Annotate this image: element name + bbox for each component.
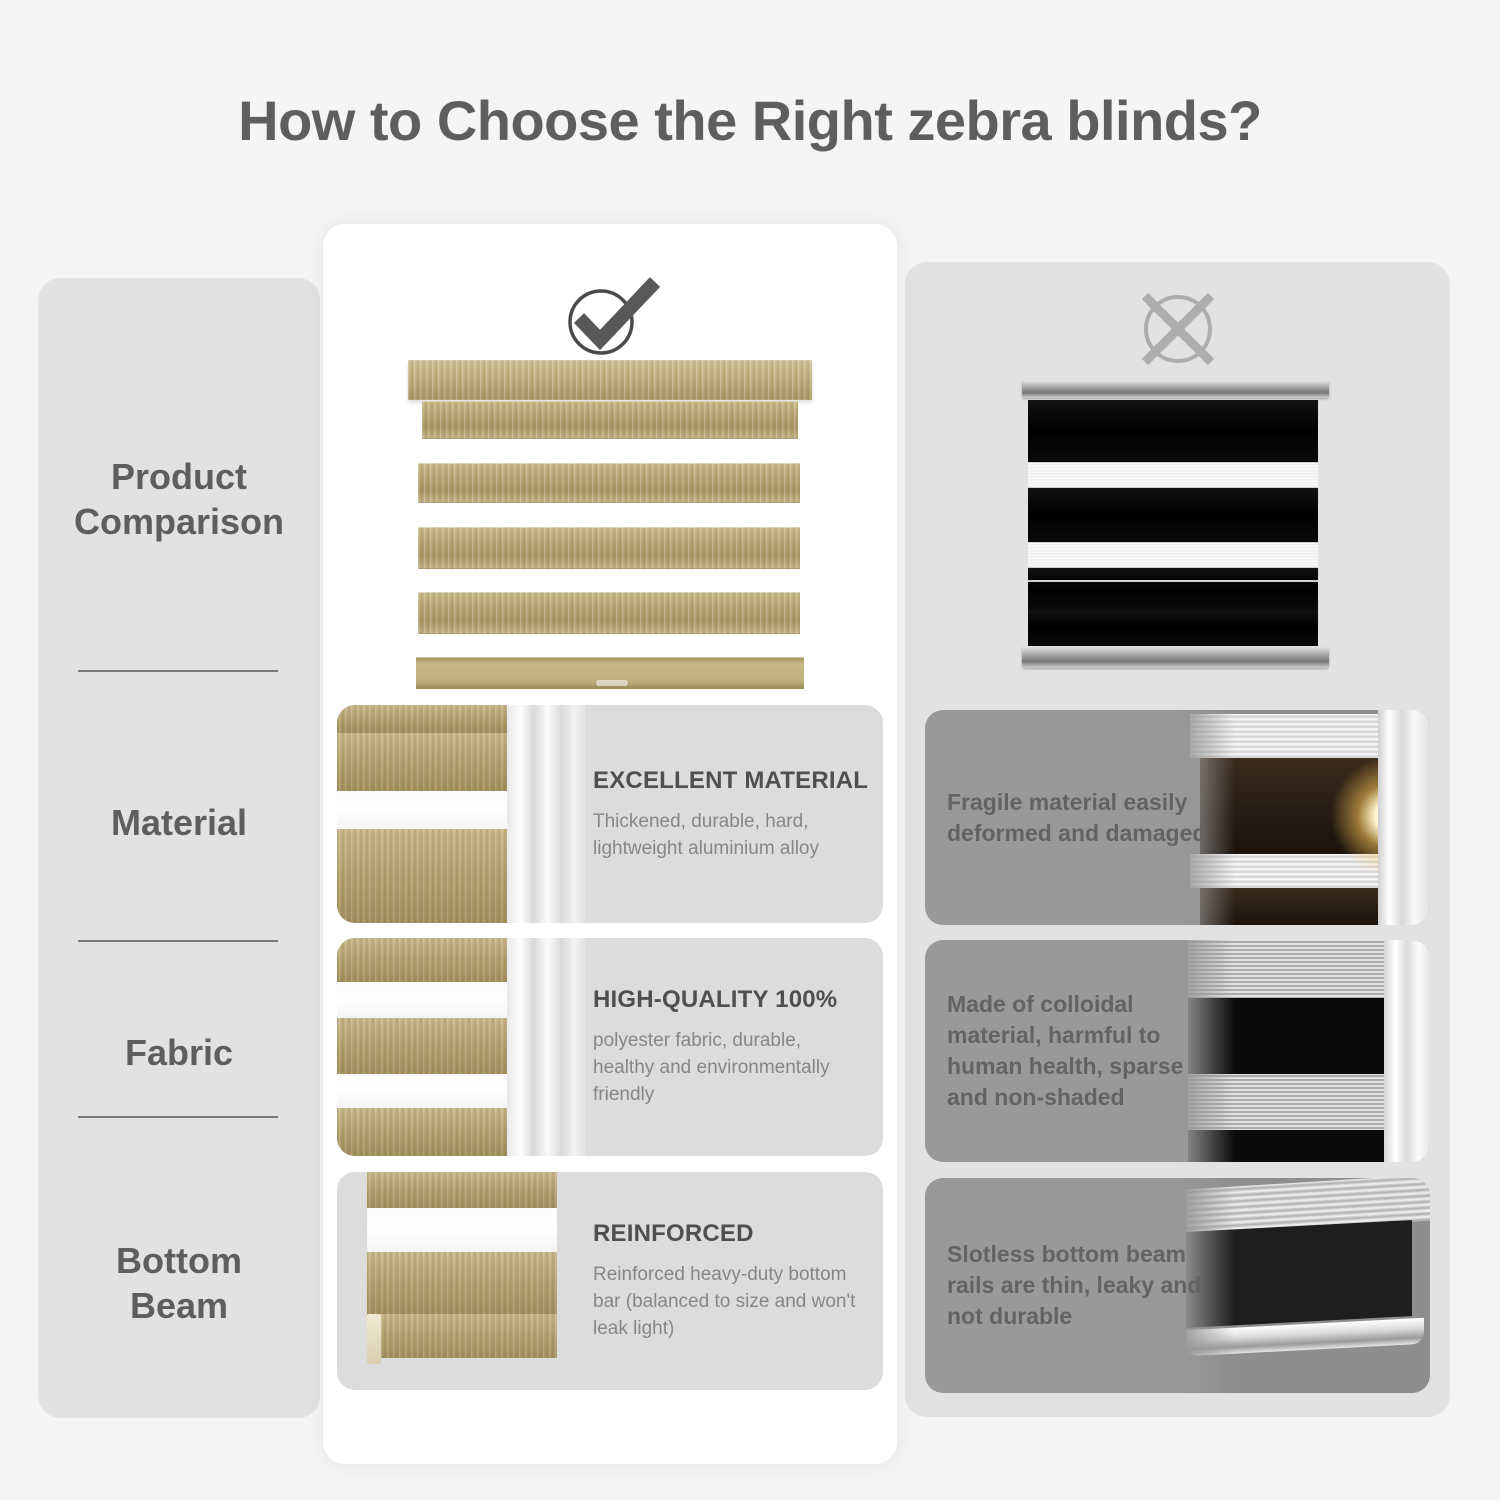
blind-band [367,1252,557,1314]
row-label-bottom-beam: Bottom Beam [38,1238,320,1328]
row-divider-1 [78,670,278,672]
check-circle-icon [555,272,665,362]
blind-slat [418,463,800,503]
row-label-line-1: Product [38,454,320,499]
good-feature-body: Thickened, durable, hard, lightweight al… [593,809,867,863]
good-feature-card-material: EXCELLENT MATERIAL Thickened, durable, h… [337,705,883,923]
row-label-fabric: Fabric [38,1030,320,1075]
row-label-panel: Product Comparison Material Fabric Botto… [38,278,320,1418]
bad-feature-card-fabric: Made of colloidal material, harmful to h… [925,940,1430,1162]
window-frame [1384,940,1430,1162]
bad-feature-body: Fragile material easily deformed and dam… [947,787,1227,849]
good-feature-heading: HIGH-QUALITY 100% [593,986,867,1014]
blind-slat [418,527,800,569]
blind-band [337,705,517,733]
blind-closeup [337,705,517,923]
good-feature-card-bottom-beam: REINFORCED Reinforced heavy-duty bottom … [337,1172,883,1390]
blind-band [337,1108,517,1156]
row-label-line-2: Comparison [38,499,320,544]
blind-band [337,733,517,791]
blind-band [337,1018,517,1074]
good-feature-image-material [337,705,585,923]
blind-closeup [337,938,517,1156]
window-frame [1378,710,1430,925]
row-label-line-1: Fabric [38,1030,320,1075]
good-feature-text-bottom-beam: REINFORCED Reinforced heavy-duty bottom … [593,1172,883,1390]
good-feature-image-fabric [337,938,585,1156]
bad-feature-text-bottom-beam: Slotless bottom beam rails are thin, lea… [947,1178,1227,1393]
blind-band [337,938,517,982]
blind-pull-handle [596,680,628,686]
window-frame [507,705,585,923]
bottom-bar-end-cap [367,1314,381,1364]
blind-light-gap [337,1074,517,1108]
blind-headrail [1022,380,1329,398]
blind-light-gap [337,791,517,829]
good-feature-heading: EXCELLENT MATERIAL [593,767,867,795]
bad-feature-card-material: Fragile material easily deformed and dam… [925,710,1430,925]
bad-feature-card-bottom-beam: Slotless bottom beam rails are thin, lea… [925,1178,1430,1393]
blind-opaque-band [1028,400,1318,462]
blind-bottom-bar [367,1314,557,1358]
blind-band [337,829,517,923]
blind-slat [422,401,798,439]
good-feature-card-fabric: HIGH-QUALITY 100% polyester fabric, dura… [337,938,883,1156]
blind-headrail [408,360,812,400]
blind-opaque-band [1028,610,1318,646]
blind-closeup [367,1172,567,1390]
blind-bottom-rail [1022,646,1329,668]
bad-feature-text-material: Fragile material easily deformed and dam… [947,710,1227,925]
blind-band [367,1172,557,1208]
page-title: How to Choose the Right zebra blinds? [0,88,1500,153]
blind-sheer-band [1028,462,1318,488]
row-divider-2 [78,940,278,942]
bad-feature-body: Slotless bottom beam rails are thin, lea… [947,1239,1227,1331]
good-feature-text-fabric: HIGH-QUALITY 100% polyester fabric, dura… [593,938,883,1156]
blind-opaque-band [1028,568,1318,610]
good-feature-body: Reinforced heavy-duty bottom bar (balanc… [593,1262,867,1343]
blind-light-gap [337,982,517,1018]
good-feature-heading: REINFORCED [593,1220,867,1248]
good-feature-image-bottom-beam [337,1172,585,1390]
blind-opaque-band [1028,488,1318,542]
blind-sheer-band [1028,542,1318,568]
blind-sheer-band [1028,580,1318,582]
good-hero-blind-image [408,360,812,695]
cross-circle-icon [1123,284,1233,374]
row-label-line-1: Bottom [38,1238,320,1283]
good-feature-body: polyester fabric, durable, healthy and e… [593,1028,867,1109]
row-divider-3 [78,1116,278,1118]
window-frame [507,938,585,1156]
bad-hero-blind-image [1022,380,1329,670]
row-label-line-1: Material [38,800,320,845]
blind-slat [418,592,800,634]
bad-feature-text-fabric: Made of colloidal material, harmful to h… [947,940,1227,1162]
row-label-product-comparison: Product Comparison [38,454,320,544]
good-feature-text-material: EXCELLENT MATERIAL Thickened, durable, h… [593,705,883,923]
row-label-line-2: Beam [38,1283,320,1328]
row-label-material: Material [38,800,320,845]
bad-feature-body: Made of colloidal material, harmful to h… [947,989,1227,1112]
blind-light-gap [367,1208,557,1252]
